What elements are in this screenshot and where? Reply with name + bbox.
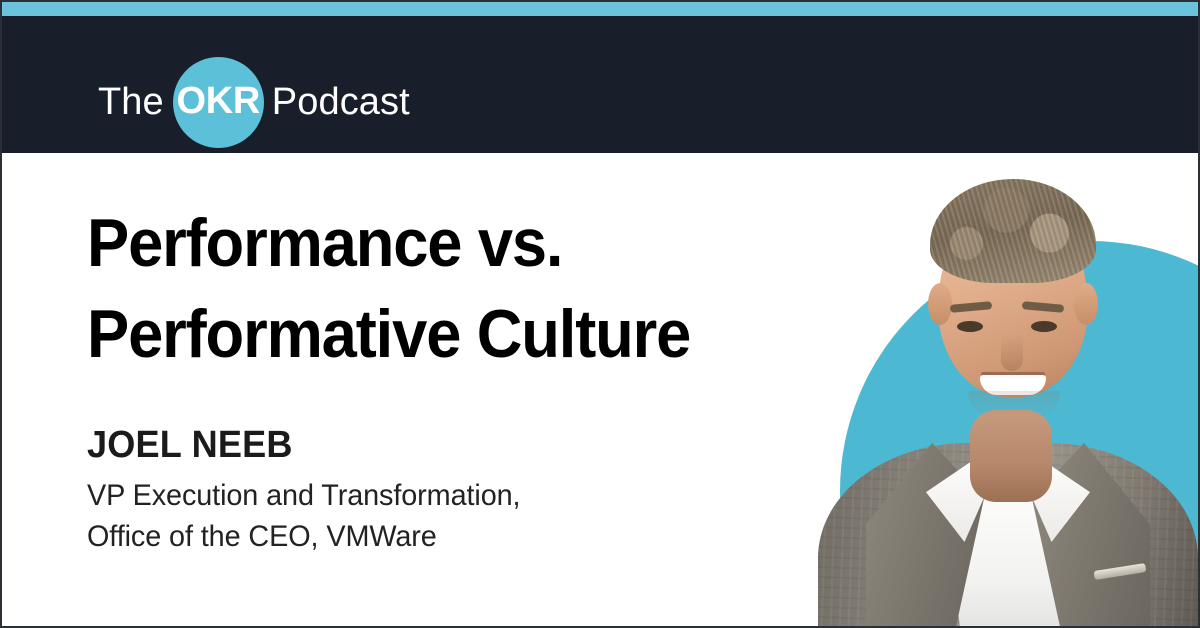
top-accent-bar — [2, 2, 1198, 16]
episode-title-line-1: Performance vs. — [87, 198, 757, 289]
photo-chin — [968, 391, 1060, 419]
episode-title: Performance vs. Performative Culture — [87, 198, 757, 380]
photo-nose — [1001, 335, 1023, 371]
guest-name: JOEL NEEB — [87, 422, 771, 468]
guest-role: VP Execution and Transformation, Office … — [87, 475, 778, 557]
photo-eye-left — [957, 321, 983, 332]
okr-badge-label: OKR — [177, 82, 261, 120]
brand-lockup: The OKR Podcast — [98, 56, 410, 148]
episode-content: Performance vs. Performative Culture JOE… — [87, 198, 807, 557]
photo-ear-left — [928, 283, 952, 325]
podcast-episode-card: The OKR Podcast — [0, 0, 1200, 628]
okr-badge-circle: OKR — [173, 57, 264, 148]
photo-eye-right — [1031, 321, 1057, 332]
photo-hair — [930, 179, 1096, 283]
photo-ear-right — [1074, 283, 1098, 325]
brand-prefix: The — [98, 83, 164, 121]
episode-title-line-2: Performative Culture — [87, 289, 757, 380]
header-band: The OKR Podcast — [2, 16, 1198, 153]
brand-suffix: Podcast — [272, 83, 410, 121]
photo-neck — [970, 410, 1052, 502]
guest-role-line-2: Office of the CEO, VMWare — [87, 516, 778, 557]
guest-photo — [818, 153, 1198, 628]
guest-role-line-1: VP Execution and Transformation, — [87, 475, 778, 516]
